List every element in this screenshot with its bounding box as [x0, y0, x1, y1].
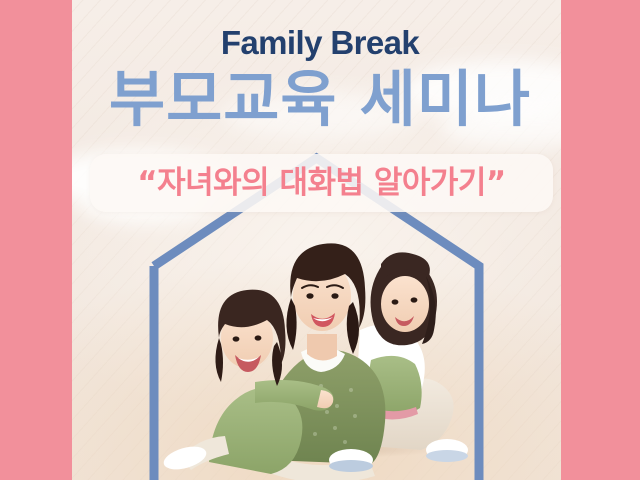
poster-main-title: 부모교육 세미나	[0, 66, 640, 134]
subtitle-banner: “자녀와의 대화법 알아가기”	[90, 154, 553, 212]
poster-eyebrow-title: Family Break	[0, 24, 640, 62]
subtitle-text: “자녀와의 대화법 알아가기”	[137, 168, 506, 199]
poster-canvas: Family Break 부모교육 세미나 “자녀와의 대화법 알아가기”	[0, 0, 640, 480]
